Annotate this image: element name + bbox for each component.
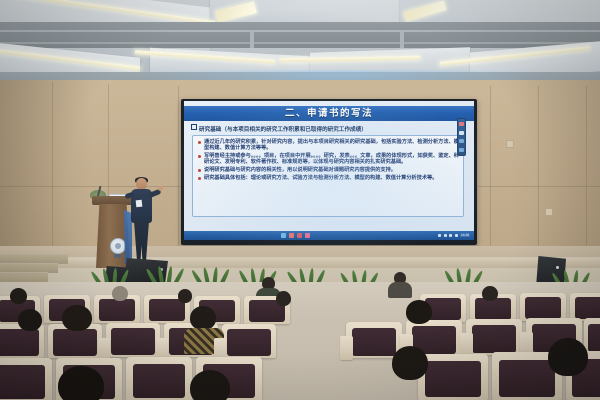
power-button[interactable] bbox=[459, 122, 464, 126]
slide-bullet: 说明研究基础与研究内容的相关性，用以说明研究基础对课题研究内容提供的支持。 bbox=[197, 167, 459, 173]
input-method-icon[interactable] bbox=[449, 234, 452, 237]
windows-taskbar[interactable]: 14:26 bbox=[184, 231, 474, 240]
speaker-legs bbox=[134, 221, 149, 265]
lecture-hall-photo: 二、申请书的写法 研究基础（与本项目相关的研究工作积累和已取得的研究工作成绩） … bbox=[0, 0, 600, 400]
volume-button[interactable] bbox=[459, 148, 464, 152]
auditorium-seat[interactable] bbox=[106, 323, 160, 357]
slide-subtitle: 研究基础（与本项目相关的研究工作积累和已取得的研究工作成绩） bbox=[191, 124, 467, 134]
slide-title: 二、申请书的写法 bbox=[184, 106, 474, 121]
speaker-hand bbox=[158, 186, 163, 191]
speaker-presenter bbox=[123, 178, 163, 270]
checkbox-icon bbox=[191, 124, 197, 130]
auditorium-seat[interactable] bbox=[418, 354, 488, 400]
auditorium-seat[interactable] bbox=[466, 319, 522, 355]
presentation-slide: 二、申请书的写法 研究基础（与本项目相关的研究工作积累和已取得的研究工作成绩） … bbox=[184, 101, 474, 231]
slide-subtitle-text: 研究基础（与本项目相关的研究工作积累和已取得的研究工作成绩） bbox=[199, 127, 367, 133]
auditorium-seat[interactable] bbox=[126, 357, 192, 400]
speaker-led-icon bbox=[556, 266, 559, 269]
slide-bullet: 研究基础具体包括：理论或研究方法、试验方法与检测分析方法、模型的构建、数值计算分… bbox=[197, 175, 459, 181]
taskbar-clock[interactable]: 14:26 bbox=[460, 234, 470, 237]
auditorium-seat[interactable] bbox=[520, 293, 566, 321]
wall-outlet bbox=[545, 208, 553, 216]
notification-icon[interactable] bbox=[455, 234, 458, 237]
projection-screen[interactable]: 二、申请书的写法 研究基础（与本项目相关的研究工作积累和已取得的研究工作成绩） … bbox=[184, 101, 474, 240]
slide-bullet: 通过近几年的研究积累，针对研究内容，提出与本项目研究相关的研究基础，包括实验方法… bbox=[197, 139, 459, 152]
taskbar-system-tray[interactable]: 14:26 bbox=[438, 234, 470, 237]
wall-outlet bbox=[506, 140, 514, 148]
auditorium-seat[interactable] bbox=[222, 324, 276, 358]
source-button[interactable] bbox=[459, 131, 464, 135]
auditorium-seat[interactable] bbox=[346, 322, 402, 358]
volume-icon[interactable] bbox=[444, 234, 447, 237]
browser-icon[interactable] bbox=[289, 233, 294, 238]
slide-bullet: 写明曾经主持或参与。。。。项目，在项目中开展。。。。研究，发表。。。文章，成果的… bbox=[197, 153, 459, 166]
display-control-strip[interactable] bbox=[457, 118, 466, 156]
menu-button[interactable] bbox=[459, 139, 464, 143]
slide-body-panel: 通过近几年的研究积累，针对研究内容，提出与本项目研究相关的研究基础，包括实验方法… bbox=[192, 135, 464, 217]
speaker-badge bbox=[136, 200, 143, 208]
network-icon[interactable] bbox=[438, 234, 441, 237]
explorer-icon[interactable] bbox=[281, 233, 286, 238]
taskbar-app-icons[interactable] bbox=[281, 233, 310, 238]
office-icon[interactable] bbox=[305, 233, 310, 238]
media-icon[interactable] bbox=[297, 233, 302, 238]
auditorium-seat[interactable] bbox=[570, 293, 600, 321]
auditorium-seat[interactable] bbox=[0, 358, 52, 400]
